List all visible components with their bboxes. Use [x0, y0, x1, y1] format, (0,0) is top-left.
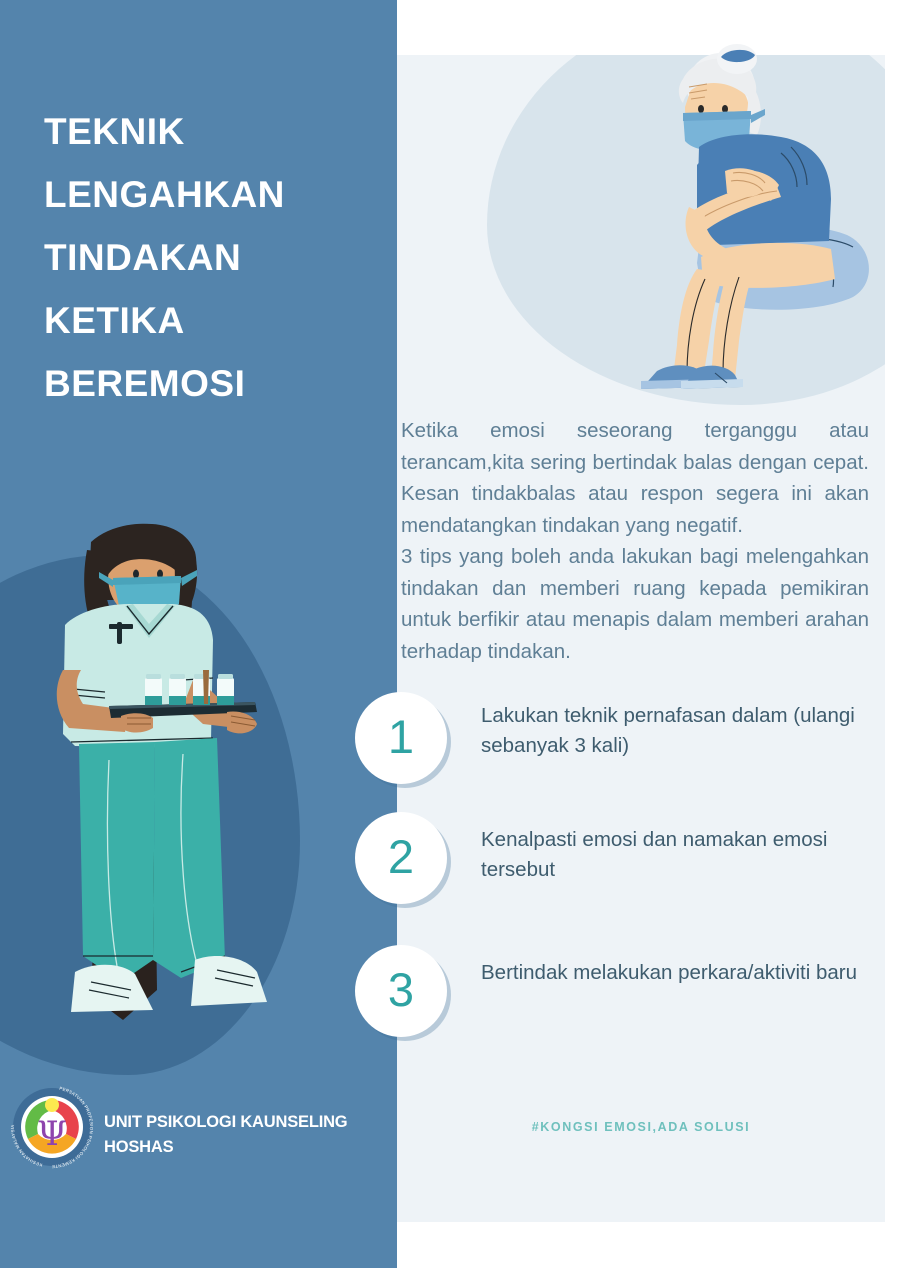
organization-name: UNIT PSIKOLOGI KAUNSELING HOSHAS [104, 1110, 374, 1160]
page-title: TEKNIK LENGAHKAN TINDAKAN KETIKA BEREMOS… [44, 100, 374, 415]
tip-text-3: Bertindak melakukan perkara/aktiviti bar… [481, 958, 881, 988]
psi-emblem-icon: Ψ KESIHATAN MALAYSIA PERSATUAN PROFESION… [10, 1085, 94, 1169]
tip-number-badge-3: 3 [355, 945, 447, 1037]
tip-number-badge-2: 2 [355, 812, 447, 904]
tip-number-3: 3 [388, 966, 414, 1013]
title-line-1: TEKNIK [44, 100, 374, 163]
campaign-hashtag: #KONGSI EMOSI,ADA SOLUSI [397, 1120, 885, 1134]
tip-number-1: 1 [388, 713, 414, 760]
infographic-poster: TEKNIK LENGAHKAN TINDAKAN KETIKA BEREMOS… [0, 0, 905, 1280]
intro-text-block: Ketika emosi seseorang terganggu atau te… [401, 415, 869, 667]
elderly-person-sitting-with-mask-illustration [585, 35, 895, 405]
intro-paragraph-1: Ketika emosi seseorang terganggu atau te… [401, 415, 869, 541]
title-line-3: TINDAKAN [44, 226, 374, 289]
organization-line-1: UNIT PSIKOLOGI KAUNSELING [104, 1110, 374, 1135]
title-line-4: KETIKA [44, 289, 374, 352]
logo-psi-glyph: Ψ [37, 1114, 67, 1154]
nurse-carrying-vaccine-tray-illustration [5, 520, 305, 1070]
title-line-5: BEREMOSI [44, 352, 374, 415]
tip-text-1: Lakukan teknik pernafasan dalam (ulangi … [481, 701, 881, 761]
intro-paragraph-2: 3 tips yang boleh anda lakukan bagi mele… [401, 541, 869, 667]
organization-line-2: HOSHAS [104, 1135, 374, 1160]
tip-text-2: Kenalpasti emosi dan namakan emosi terse… [481, 825, 881, 885]
tip-number-badge-1: 1 [355, 692, 447, 784]
title-line-2: LENGAHKAN [44, 163, 374, 226]
tip-number-2: 2 [388, 833, 414, 880]
